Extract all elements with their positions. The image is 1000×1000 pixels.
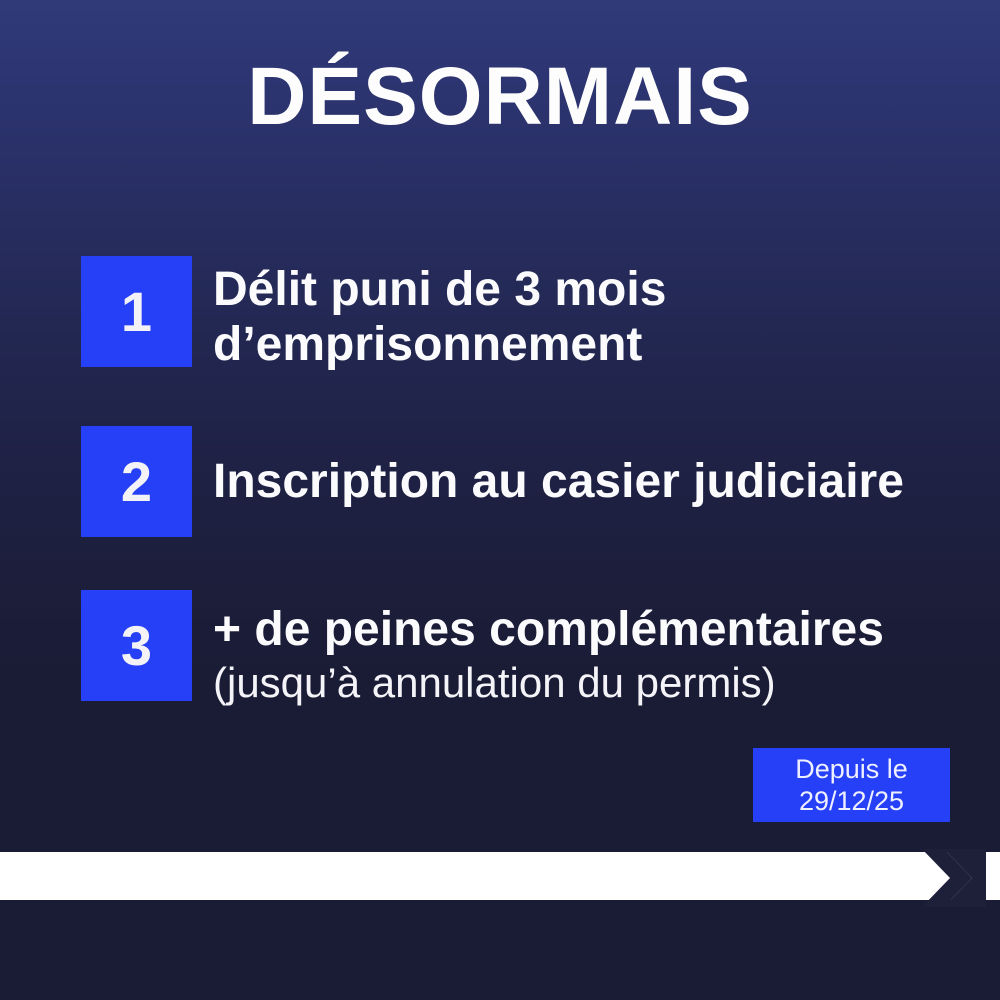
list-item-number-badge: 3 — [81, 590, 192, 701]
date-badge-line-2: 29/12/25 — [799, 785, 904, 817]
effective-date-badge: Depuis le 29/12/25 — [753, 748, 950, 822]
list-item: 2 Inscription au casier judiciaire — [81, 426, 961, 537]
page-title: DÉSORMAIS — [0, 56, 1000, 138]
footer-bar — [0, 852, 1000, 900]
list-item-content: Délit puni de 3 mois d’emprisonnement — [192, 256, 961, 372]
list-item-label: + de peines complémentaires — [213, 602, 961, 657]
list-item-content: Inscription au casier judiciaire — [192, 426, 961, 509]
list-item-label: Inscription au casier judiciaire — [213, 454, 961, 509]
date-badge-line-1: Depuis le — [795, 753, 908, 785]
list-item-number-badge: 2 — [81, 426, 192, 537]
list-item-number-badge: 1 — [81, 256, 192, 367]
list-item-sublabel: (jusqu’à annulation du permis) — [213, 658, 961, 708]
numbered-list: 1 Délit puni de 3 mois d’emprisonnement … — [81, 256, 961, 708]
list-item-label: Délit puni de 3 mois d’emprisonnement — [213, 262, 961, 372]
list-item: 3 + de peines complémentaires (jusqu’à a… — [81, 590, 961, 708]
list-item-content: + de peines complémentaires (jusqu’à ann… — [192, 590, 961, 708]
poster-canvas: DÉSORMAIS 1 Délit puni de 3 mois d’empri… — [0, 0, 1000, 1000]
list-item: 1 Délit puni de 3 mois d’emprisonnement — [81, 256, 961, 372]
